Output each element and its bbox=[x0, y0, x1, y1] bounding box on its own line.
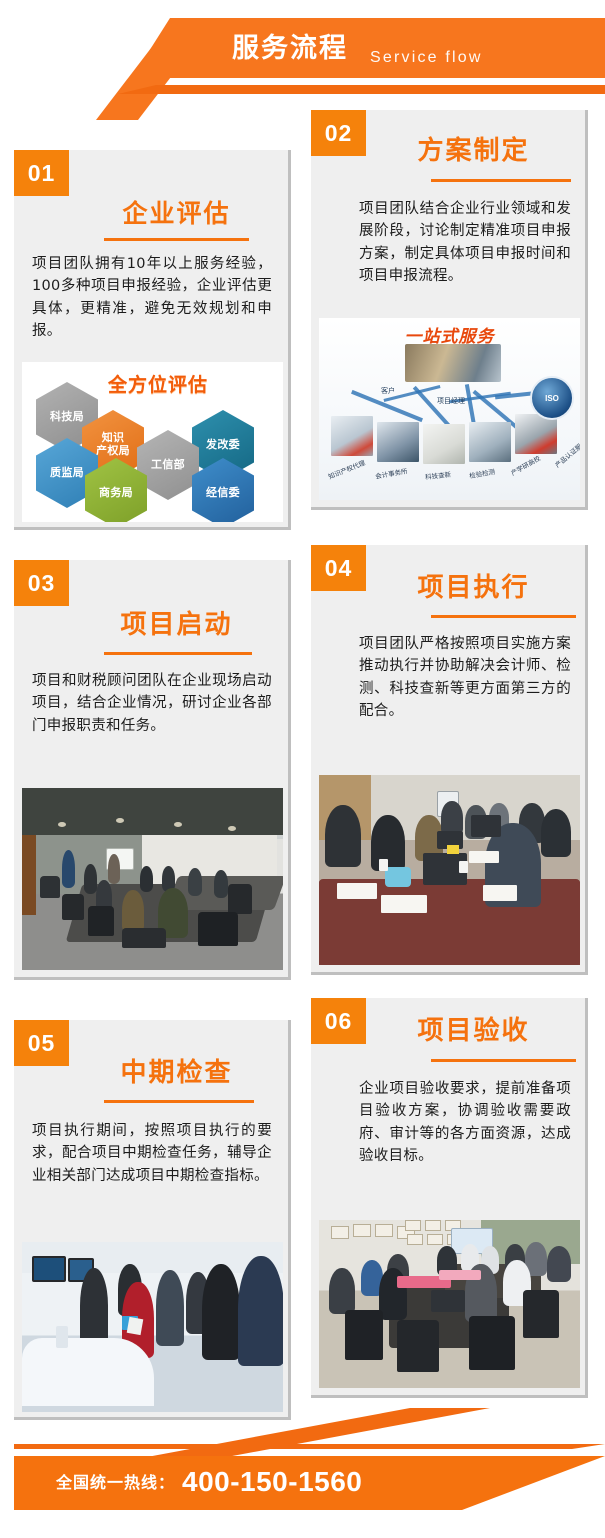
step-title: 项目启动 bbox=[69, 604, 284, 641]
header-banner bbox=[132, 18, 605, 78]
title-underline bbox=[431, 179, 571, 182]
step-number-badge: 04 bbox=[311, 545, 366, 591]
oss-thumb-university bbox=[515, 414, 557, 454]
photo-site-visit-inspection bbox=[22, 1242, 283, 1412]
hex-diagram-title: 全方位评估 bbox=[108, 370, 208, 397]
footer-hotline-number: 400-150-1560 bbox=[182, 1464, 362, 1500]
oss-leaf-university: 产学研高校 bbox=[509, 453, 542, 478]
oss-leaf-testing: 检验检测 bbox=[468, 466, 495, 480]
oss-leaf-novelty: 科技查新 bbox=[425, 469, 452, 482]
step-description: 企业项目验收要求，提前准备项目验收方案，协调验收需要政府、审计等的各方面资源，达… bbox=[359, 1078, 571, 1168]
footer-thin-stripe bbox=[14, 1444, 605, 1449]
oss-thumb-accounting bbox=[377, 422, 419, 462]
oss-node-project-manager: 项目经理 bbox=[437, 396, 465, 406]
step-description: 项目团队拥有10年以上服务经验，100多种项目申报经验，企业评估更具体，更精准，… bbox=[32, 253, 272, 343]
header-underline-stripe bbox=[118, 85, 605, 94]
step-title: 企业评估 bbox=[69, 194, 284, 230]
oss-thumb-testing bbox=[469, 422, 511, 462]
photo-conference-room-kickoff bbox=[22, 788, 283, 970]
oss-thumb-ip bbox=[331, 416, 373, 456]
step-card-05: 05 中期检查 项目执行期间，按照项目执行的要求，配合项目中期检查任务，辅导企业… bbox=[14, 1020, 291, 1420]
step-description: 项目团队严格按照项目实施方案推动执行并协助解决会计师、检测、科技查新等更方面第三… bbox=[359, 633, 571, 723]
oss-certification-seal: ISO bbox=[530, 376, 574, 420]
oss-center-photo bbox=[405, 344, 501, 382]
photo-team-working-meeting bbox=[319, 775, 580, 965]
page-footer: 全国统一热线： 400-150-1560 bbox=[0, 1408, 605, 1538]
page-title: 服务流程 bbox=[232, 26, 348, 70]
oss-thumb-novelty bbox=[423, 424, 465, 464]
title-underline bbox=[104, 238, 249, 241]
step-title: 项目执行 bbox=[366, 567, 581, 604]
step-description: 项目执行期间，按照项目执行的要求，配合项目中期检查任务，辅导企业相关部门达成项目… bbox=[32, 1120, 272, 1187]
page-header: 服务流程 Service flow bbox=[0, 0, 605, 120]
oss-leaf-ip: 知识产权代理 bbox=[327, 457, 367, 481]
step-number-badge: 02 bbox=[311, 110, 366, 156]
step-number-badge: 03 bbox=[14, 560, 69, 606]
step-description: 项目团队结合企业行业领域和发展阶段，讨论制定精准项目申报方案，制定具体项目申报时… bbox=[359, 198, 571, 288]
step-number-badge: 06 bbox=[311, 998, 366, 1044]
step-card-06: 06 项目验收 企业项目验收要求，提前准备项目验收方案，协调验收需要政府、审计等… bbox=[311, 998, 588, 1398]
title-underline bbox=[431, 1059, 576, 1062]
oss-node-customer: 客户 bbox=[381, 386, 395, 396]
footer-hotline-label: 全国统一热线： bbox=[56, 1472, 175, 1496]
hex-assessment-diagram: 全方位评估 科技局 知识 产权局 发改委 质监局 工信部 商务局 经信委 bbox=[22, 362, 283, 522]
step-card-02: 02 方案制定 项目团队结合企业行业领域和发展阶段，讨论制定精准项目申报方案，制… bbox=[311, 110, 588, 510]
step-number-badge: 01 bbox=[14, 150, 69, 196]
page-subtitle: Service flow bbox=[370, 36, 483, 80]
title-underline bbox=[431, 615, 576, 618]
step-card-01: 01 企业评估 项目团队拥有10年以上服务经验，100多种项目申报经验，企业评估… bbox=[14, 150, 291, 530]
step-title: 中期检查 bbox=[69, 1052, 284, 1089]
footer-chevron-accent bbox=[120, 1408, 605, 1462]
step-title: 方案制定 bbox=[366, 130, 581, 167]
oss-leaf-accounting: 会计事务所 bbox=[374, 465, 408, 480]
step-card-03: 03 项目启动 项目和财税顾问团队在企业现场启动项目，结合企业情况，研讨企业各部… bbox=[14, 560, 291, 980]
one-stop-service-diagram: 一站式服务 客户 项目经理 ISO 知识产权代理 会计事务所 科技查新 检验检测… bbox=[319, 318, 580, 500]
step-card-04: 04 项目执行 项目团队严格按照项目实施方案推动执行并协助解决会计师、检测、科技… bbox=[311, 545, 588, 975]
step-number-badge: 05 bbox=[14, 1020, 69, 1066]
step-title: 项目验收 bbox=[366, 1010, 581, 1047]
title-underline bbox=[104, 652, 252, 655]
title-underline bbox=[104, 1100, 254, 1103]
photo-acceptance-meeting bbox=[319, 1220, 580, 1388]
step-description: 项目和财税顾问团队在企业现场启动项目，结合企业情况，研讨企业各部门申报职责和任务… bbox=[32, 670, 272, 737]
